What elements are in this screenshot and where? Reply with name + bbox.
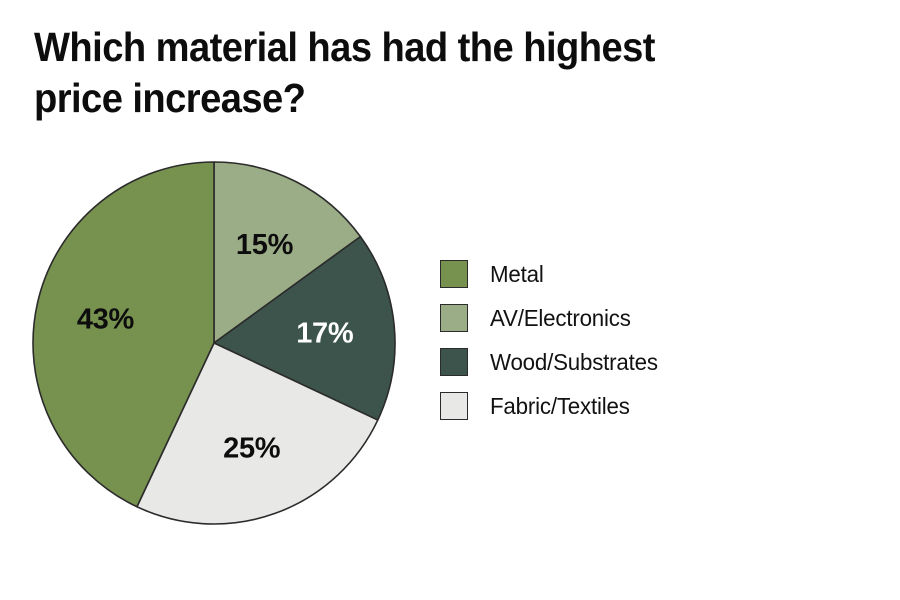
legend-item-metal[interactable]: Metal (440, 252, 870, 296)
pie-slice-value-label: 43% (77, 304, 135, 336)
legend-item-av-electronics[interactable]: AV/Electronics (440, 296, 870, 340)
legend-swatch-icon (440, 260, 468, 288)
legend-swatch-icon (440, 348, 468, 376)
legend: Metal AV/Electronics Wood/Substrates Fab… (440, 252, 870, 428)
pie-slice-value-label: 25% (223, 433, 281, 465)
legend-item-label: Wood/Substrates (490, 349, 658, 376)
legend-item-label: AV/Electronics (490, 305, 631, 332)
legend-item-wood-substrates[interactable]: Wood/Substrates (440, 340, 870, 384)
pie-slice-value-label: 15% (236, 229, 294, 261)
legend-item-fabric-textiles[interactable]: Fabric/Textiles (440, 384, 870, 428)
pie-chart: 15%17%25%43% (0, 0, 440, 600)
pie-chart-figure: Which material has had the highest price… (0, 0, 900, 600)
pie-chart-svg: 15%17%25%43% (0, 0, 440, 600)
legend-swatch-icon (440, 392, 468, 420)
legend-item-label: Fabric/Textiles (490, 393, 630, 420)
legend-swatch-icon (440, 304, 468, 332)
pie-slice-value-label: 17% (296, 318, 354, 350)
legend-item-label: Metal (490, 261, 544, 288)
